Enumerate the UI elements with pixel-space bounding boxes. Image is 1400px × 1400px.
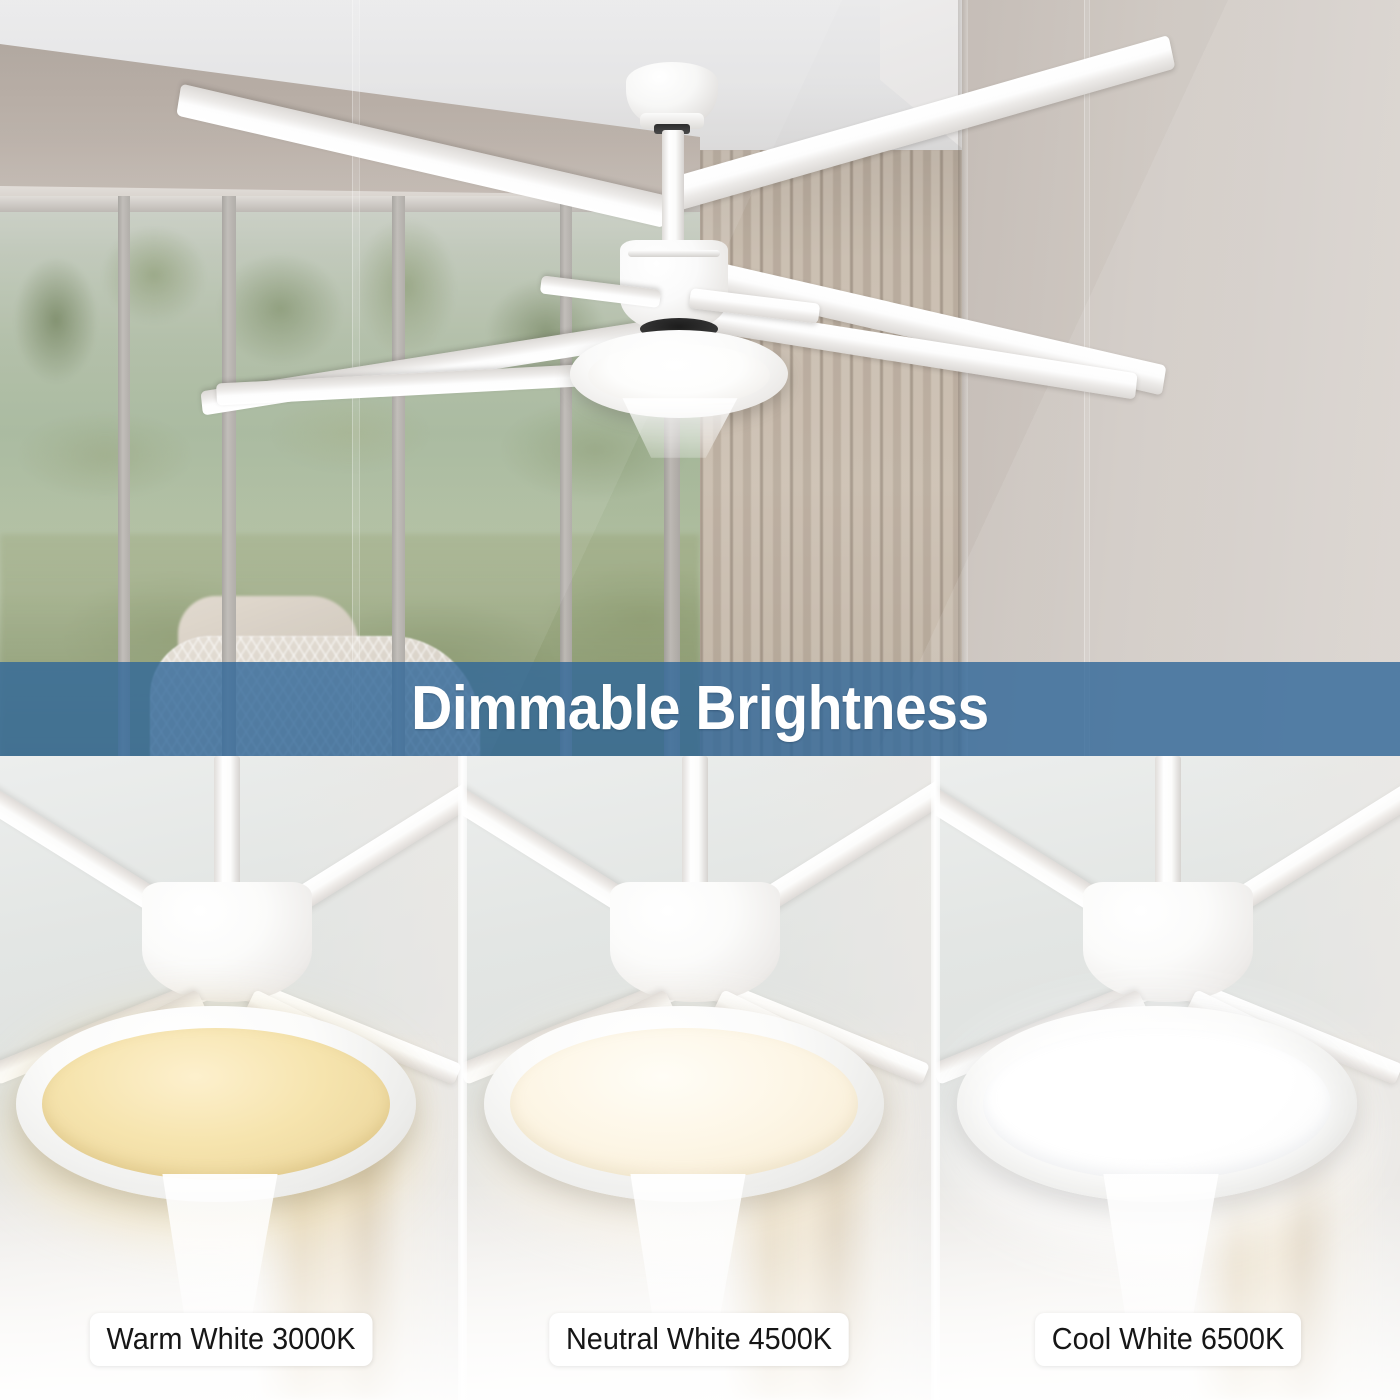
fan-light-lens (983, 1028, 1331, 1180)
feature-banner: Dimmable Brightness (0, 662, 1400, 756)
color-temperature-comparison: Warm White 3000K Neutral White 4500K (0, 756, 1400, 1400)
motor-trim-band (628, 250, 720, 257)
fan-light-lens (42, 1028, 390, 1180)
fan-downrod (662, 130, 684, 248)
color-temp-label-warm-white: Warm White 3000K (90, 1313, 372, 1366)
room-scene-photo: 10% 100% Dimmable Brightness (0, 0, 1400, 760)
brightness-slider-control[interactable]: 10% 100% (0, 498, 1400, 618)
fan-light-lens (588, 344, 770, 406)
product-feature-graphic: 10% 100% Dimmable Brightness (0, 0, 1400, 1400)
fan-blade (176, 84, 668, 228)
fan-blade (668, 35, 1175, 212)
color-temp-panel-warm-white[interactable]: Warm White 3000K (0, 756, 462, 1400)
color-temp-panel-cool-white[interactable]: Cool White 6500K (935, 756, 1400, 1400)
fan-motor-housing (142, 882, 312, 1002)
color-temp-label-neutral-white: Neutral White 4500K (549, 1313, 849, 1366)
fan-motor-housing (610, 882, 780, 1002)
panel-divider (931, 756, 940, 1400)
panel-floor-glow (935, 1181, 1400, 1400)
color-temp-panel-neutral-white[interactable]: Neutral White 4500K (462, 756, 935, 1400)
color-temp-label-cool-white: Cool White 6500K (1035, 1313, 1301, 1366)
panel-divider (458, 756, 467, 1400)
ceiling-fan (0, 0, 1400, 760)
panel-floor-glow (462, 1181, 935, 1400)
fan-light-lens (510, 1028, 858, 1180)
panel-floor-glow (0, 1181, 462, 1400)
fan-motor-housing (1083, 882, 1253, 1002)
banner-title: Dimmable Brightness (411, 678, 989, 740)
